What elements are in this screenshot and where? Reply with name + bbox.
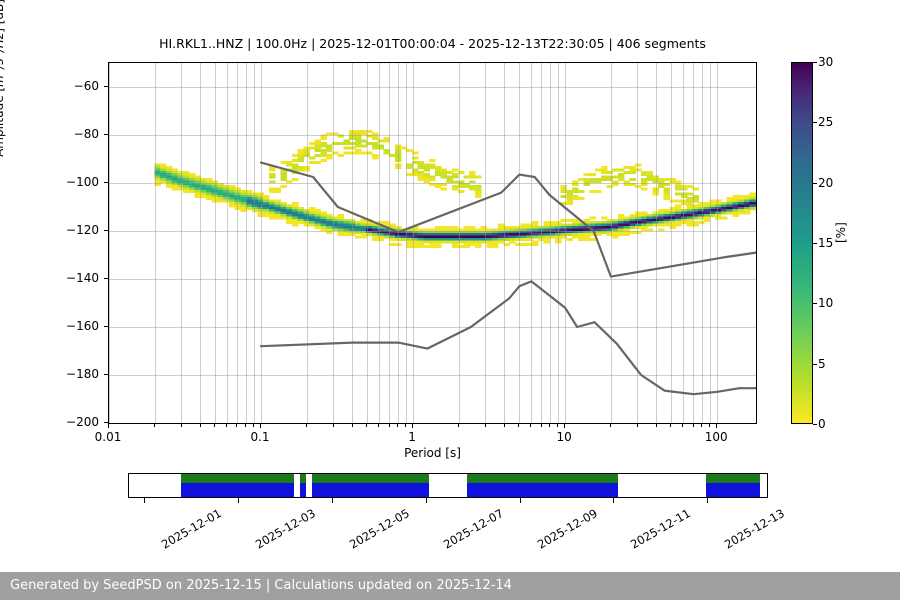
x-minor-tick-mark <box>557 424 558 427</box>
colorbar-tick-mark <box>813 243 817 244</box>
timeline-tick-mark <box>332 498 333 503</box>
timeline-data-segment <box>706 474 760 497</box>
timeline-tick-mark <box>144 498 145 503</box>
colorbar-label: [%] <box>834 222 848 243</box>
x-minor-tick-mark <box>504 424 505 427</box>
x-minor-tick-mark <box>154 424 155 427</box>
colorbar-tick-label: 20 <box>818 176 833 190</box>
x-minor-tick-mark <box>701 424 702 427</box>
colorbar-tick-mark <box>813 122 817 123</box>
timeline-data-segment <box>467 474 618 497</box>
y-tick-mark <box>104 278 108 279</box>
y-tick-label: −60 <box>0 79 99 93</box>
noise-model-lines <box>109 63 756 423</box>
colorbar-tick-label: 15 <box>818 236 833 250</box>
x-minor-tick-mark <box>693 424 694 427</box>
timeline-date-label: 2025-12-11 <box>628 506 693 552</box>
x-minor-tick-mark <box>181 424 182 427</box>
segment-green-band <box>300 474 306 483</box>
y-tick-mark <box>104 422 108 423</box>
timeline-date-label: 2025-12-01 <box>159 506 224 552</box>
timeline-date-label: 2025-12-03 <box>253 506 318 552</box>
timeline-tick-mark <box>426 498 427 503</box>
colorbar-gradient <box>791 62 813 424</box>
x-minor-tick-mark <box>682 424 683 427</box>
colorbar-tick-mark <box>813 303 817 304</box>
y-tick-label: −100 <box>0 175 99 189</box>
colorbar-tick-label: 30 <box>818 55 833 69</box>
x-tick-label: 1 <box>408 430 416 444</box>
timeline-data-segment <box>312 474 429 497</box>
x-minor-tick-mark <box>518 424 519 427</box>
colorbar-tick-mark <box>813 364 817 365</box>
timeline-tick-mark <box>707 498 708 503</box>
x-tick-mark <box>412 424 413 428</box>
x-minor-tick-mark <box>610 424 611 427</box>
x-minor-tick-mark <box>253 424 254 427</box>
x-minor-tick-mark <box>458 424 459 427</box>
segment-green-band <box>467 474 618 483</box>
x-tick-label: 100 <box>705 430 728 444</box>
timeline-tick-mark <box>238 498 239 503</box>
x-minor-tick-mark <box>306 424 307 427</box>
segment-blue-band <box>312 483 429 497</box>
x-minor-tick-mark <box>245 424 246 427</box>
colorbar-tick-mark <box>813 183 817 184</box>
x-minor-tick-mark <box>352 424 353 427</box>
segment-green-band <box>706 474 760 483</box>
x-tick-label: 0.01 <box>95 430 122 444</box>
footer-text: Generated by SeedPSD on 2025-12-15 | Cal… <box>10 578 512 593</box>
data-availability-timeline[interactable] <box>128 473 768 498</box>
segment-blue-band <box>300 483 306 497</box>
x-minor-tick-mark <box>541 424 542 427</box>
x-minor-tick-mark <box>226 424 227 427</box>
timeline-tick-mark <box>520 498 521 503</box>
timeline-date-label: 2025-12-09 <box>534 506 599 552</box>
ppsd-figure-root: HI.RKL1..HNZ | 100.0Hz | 2025-12-01T00:0… <box>0 0 900 600</box>
x-minor-tick-mark <box>236 424 237 427</box>
y-tick-label: −120 <box>0 223 99 237</box>
x-minor-tick-mark <box>397 424 398 427</box>
y-tick-label: −140 <box>0 271 99 285</box>
y-tick-label: −80 <box>0 127 99 141</box>
x-tick-label: 10 <box>556 430 571 444</box>
x-tick-mark <box>716 424 717 428</box>
segment-green-band <box>312 474 429 483</box>
colorbar-tick-label: 5 <box>818 357 826 371</box>
x-tick-mark <box>108 424 109 428</box>
x-minor-tick-mark <box>389 424 390 427</box>
x-minor-tick-mark <box>530 424 531 427</box>
segment-blue-band <box>181 483 295 497</box>
segment-blue-band <box>467 483 618 497</box>
segment-green-band <box>181 474 295 483</box>
x-minor-tick-mark <box>549 424 550 427</box>
x-minor-tick-mark <box>637 424 638 427</box>
x-minor-tick-mark <box>670 424 671 427</box>
x-minor-tick-mark <box>333 424 334 427</box>
x-minor-tick-mark <box>405 424 406 427</box>
y-tick-mark <box>104 182 108 183</box>
y-tick-label: −180 <box>0 367 99 381</box>
x-minor-tick-mark <box>214 424 215 427</box>
y-axis-label: Amplitude [m2/s4/Hz] [dB] <box>0 0 6 243</box>
x-minor-tick-mark <box>378 424 379 427</box>
figure-canvas-area: HI.RKL1..HNZ | 100.0Hz | 2025-12-01T00:0… <box>0 0 900 600</box>
x-tick-mark <box>564 424 565 428</box>
colorbar-tick-mark <box>813 424 817 425</box>
footer-bar: Generated by SeedPSD on 2025-12-15 | Cal… <box>0 572 900 600</box>
colorbar-tick-mark <box>813 62 817 63</box>
x-tick-mark <box>260 424 261 428</box>
colorbar-tick-label: 0 <box>818 417 826 431</box>
x-minor-tick-mark <box>709 424 710 427</box>
timeline-tick-mark <box>613 498 614 503</box>
colorbar-tick-label: 25 <box>818 115 833 129</box>
y-tick-mark <box>104 326 108 327</box>
y-tick-mark <box>104 86 108 87</box>
timeline-date-label: 2025-12-05 <box>347 506 412 552</box>
x-minor-tick-mark <box>200 424 201 427</box>
colorbar-tick-label: 10 <box>818 296 833 310</box>
y-tick-mark <box>104 230 108 231</box>
x-tick-label: 0.1 <box>250 430 269 444</box>
x-minor-tick-mark <box>656 424 657 427</box>
plot-title: HI.RKL1..HNZ | 100.0Hz | 2025-12-01T00:0… <box>108 36 757 51</box>
timeline-data-segment <box>181 474 295 497</box>
y-tick-mark <box>104 374 108 375</box>
x-minor-tick-mark <box>485 424 486 427</box>
timeline-date-label: 2025-12-13 <box>722 506 787 552</box>
x-minor-tick-mark <box>366 424 367 427</box>
x-axis-label: Period [s] <box>108 446 757 460</box>
segment-blue-band <box>706 483 760 497</box>
y-tick-mark <box>104 134 108 135</box>
timeline-date-label: 2025-12-07 <box>441 506 506 552</box>
timeline-data-segment <box>300 474 306 497</box>
y-tick-label: −200 <box>0 415 99 429</box>
ppsd-plot-axes[interactable] <box>108 62 757 424</box>
y-tick-label: −160 <box>0 319 99 333</box>
